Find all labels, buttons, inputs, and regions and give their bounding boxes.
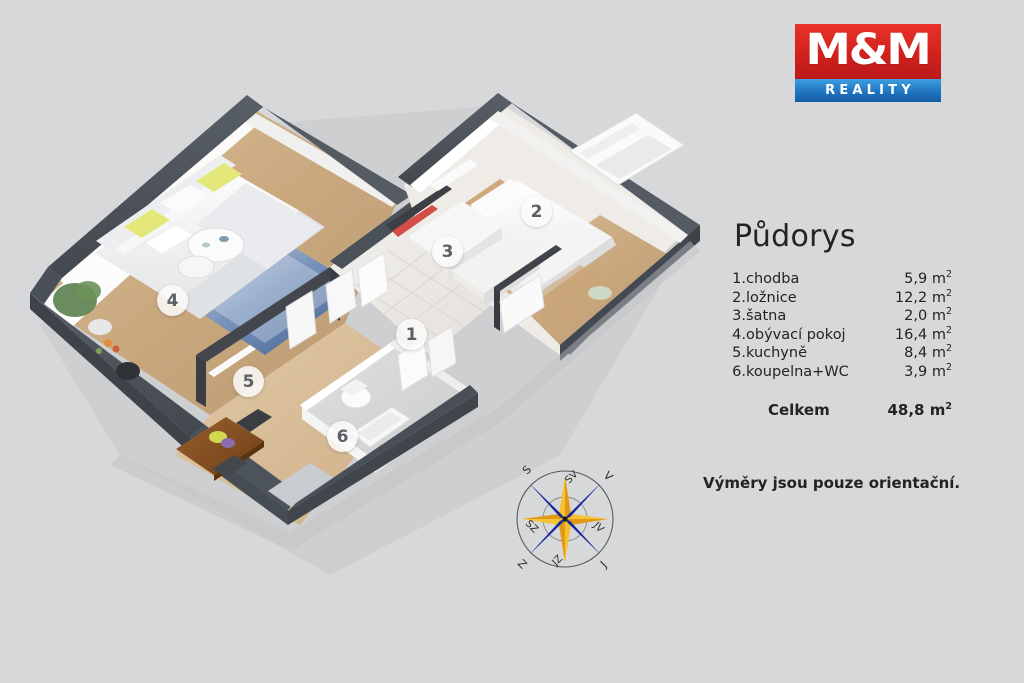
compass-label-w: Z (515, 557, 530, 572)
legend-index: 1. (724, 270, 746, 289)
mm-reality-logo: M&M REALITY (795, 24, 941, 102)
legend-room-area: 2,0 m2 (874, 307, 952, 326)
legend-index: 5. (724, 344, 746, 363)
room-marker-3[interactable]: 3 (432, 236, 463, 267)
legend-room-area: 5,9 m2 (874, 270, 952, 289)
logo-blue-bar: REALITY (795, 79, 941, 102)
legend-total-area: 48,8 m2 (874, 382, 952, 420)
room-marker-5-label: 5 (243, 372, 255, 392)
compass-label-s: J (597, 559, 609, 571)
floorplan-page: M&M REALITY (0, 0, 1024, 683)
compass-svg: S SV V JV J JZ Z SZ (503, 458, 627, 580)
legend-room-name: ložnice (746, 289, 874, 308)
room-marker-4-label: 4 (167, 291, 179, 311)
compass-label-e: V (601, 469, 616, 484)
room-marker-5[interactable]: 5 (233, 366, 264, 397)
logo-reality-text: REALITY (821, 84, 915, 97)
room-marker-1[interactable]: 1 (396, 319, 427, 350)
legend-room-name: šatna (746, 307, 874, 326)
room-legend-body: 1. chodba 5,9 m2 2. ložnice 12,2 m2 3. š… (724, 270, 952, 419)
legend-index: 6. (724, 363, 746, 382)
room-marker-3-label: 3 (442, 242, 454, 262)
page-title: Půdorys (734, 222, 953, 252)
legend-room-area: 16,4 m2 (874, 326, 952, 345)
compass-rose: S SV V JV J JZ Z SZ (503, 458, 627, 580)
legend-room-name: koupelna+WC (746, 363, 874, 382)
disclaimer-note: Výměry jsou pouze orientační. (703, 474, 993, 492)
legend-total-row: Celkem 48,8 m2 (724, 382, 952, 420)
legend-panel: Půdorys 1. chodba 5,9 m2 2. ložnice 12,2… (718, 222, 953, 419)
room-marker-4[interactable]: 4 (157, 285, 188, 316)
logo-mm-text: M&M (806, 29, 930, 72)
legend-room-name: chodba (746, 270, 874, 289)
legend-row: 4. obývací pokoj 16,4 m2 (724, 326, 952, 345)
bedroom-decor (588, 286, 612, 300)
legend-row: 5. kuchyně 8,4 m2 (724, 344, 952, 363)
legend-total-label: Celkem (746, 382, 874, 420)
legend-room-area: 12,2 m2 (874, 289, 952, 308)
legend-room-name: kuchyně (746, 344, 874, 363)
legend-index: 4. (724, 326, 746, 345)
legend-room-name: obývací pokoj (746, 326, 874, 345)
legend-row: 3. šatna 2,0 m2 (724, 307, 952, 326)
compass-label-se: JV (590, 520, 606, 536)
legend-index: 3. (724, 307, 746, 326)
legend-index: 2. (724, 289, 746, 308)
logo-red-block: M&M (795, 24, 941, 79)
legend-row: 2. ložnice 12,2 m2 (724, 289, 952, 308)
compass-label-n: S (520, 463, 534, 477)
room-marker-2-label: 2 (531, 202, 543, 222)
room-legend-table: 1. chodba 5,9 m2 2. ložnice 12,2 m2 3. š… (724, 270, 952, 419)
legend-room-area: 3,9 m2 (874, 363, 952, 382)
room-marker-6[interactable]: 6 (327, 421, 358, 452)
legend-row: 1. chodba 5,9 m2 (724, 270, 952, 289)
room-marker-1-label: 1 (406, 325, 418, 345)
room-marker-2[interactable]: 2 (521, 196, 552, 227)
legend-total-spacer (724, 382, 746, 420)
legend-room-area: 8,4 m2 (874, 344, 952, 363)
legend-row: 6. koupelna+WC 3,9 m2 (724, 363, 952, 382)
room-marker-6-label: 6 (337, 427, 349, 447)
